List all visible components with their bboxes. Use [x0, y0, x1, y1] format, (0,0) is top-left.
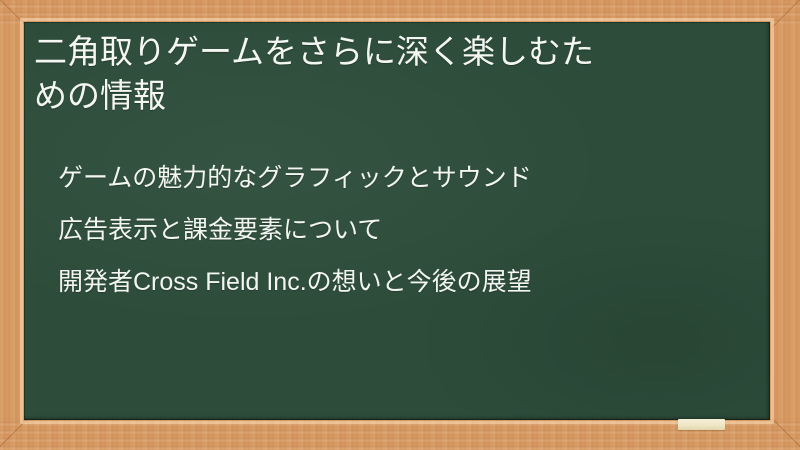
chalk-stick-icon: [678, 419, 725, 430]
topic-list: ゲームの魅力的なグラフィックとサウンド 広告表示と課金要素について 開発者Cro…: [58, 152, 758, 308]
list-item: 広告表示と課金要素について: [58, 204, 758, 256]
page-title-line-1: 二角取りゲームをさらに深く楽しむた: [34, 30, 754, 74]
chalkboard-surface: 二角取りゲームをさらに深く楽しむた めの情報 ゲームの魅力的なグラフィックとサウ…: [24, 22, 770, 420]
chalkboard-slide: 二角取りゲームをさらに深く楽しむた めの情報 ゲームの魅力的なグラフィックとサウ…: [0, 0, 800, 450]
page-title: 二角取りゲームをさらに深く楽しむた めの情報: [34, 30, 754, 118]
page-title-line-2: めの情報: [34, 74, 754, 118]
list-item: ゲームの魅力的なグラフィックとサウンド: [58, 152, 758, 204]
list-item: 開発者Cross Field Inc.の想いと今後の展望: [58, 256, 758, 308]
